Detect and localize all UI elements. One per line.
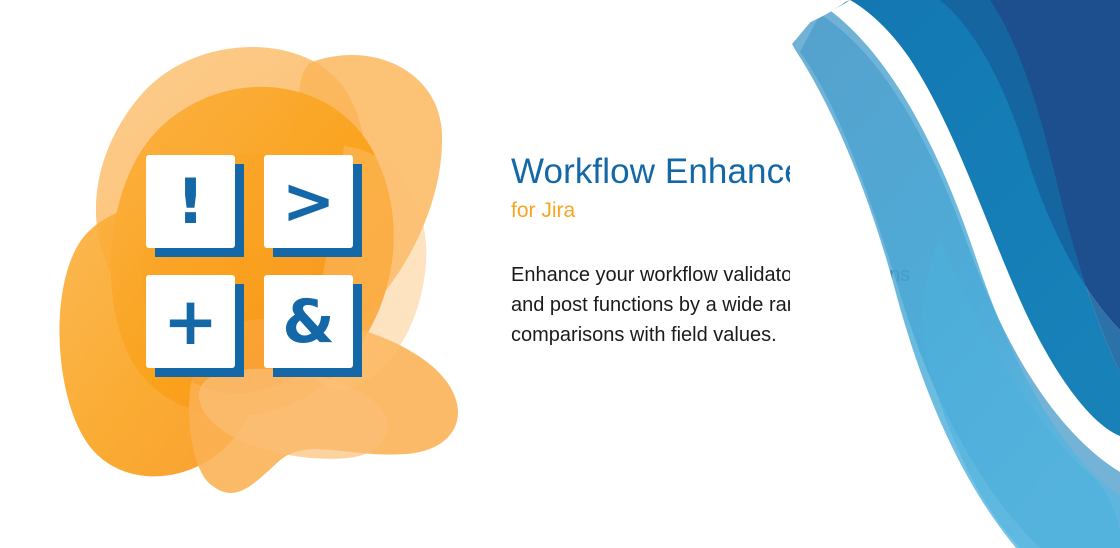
ampersand-tile: & — [264, 275, 353, 368]
product-banner: ! > + & — [0, 0, 1120, 548]
tile-face: > — [264, 155, 353, 248]
tile-face: ! — [146, 155, 235, 248]
product-subtitle: for Jira — [511, 198, 951, 224]
product-description: Enhance your workflow validators, condit… — [511, 260, 943, 350]
product-logo: ! > + & — [44, 26, 484, 518]
tile-face: & — [264, 275, 353, 368]
greater-than-tile: > — [264, 155, 353, 248]
exclamation-tile: ! — [146, 155, 235, 248]
product-text-block: Workflow Enhancer for Jira Enhance your … — [511, 150, 951, 350]
plus-tile: + — [146, 275, 235, 368]
plus-icon: + — [163, 289, 218, 355]
logo-tile-grid: ! > + & — [146, 155, 362, 377]
ampersand-icon: & — [282, 292, 334, 352]
greater-than-icon: > — [282, 170, 336, 234]
tile-face: + — [146, 275, 235, 368]
exclamation-icon: ! — [176, 171, 204, 233]
page-title: Workflow Enhancer — [511, 150, 951, 194]
